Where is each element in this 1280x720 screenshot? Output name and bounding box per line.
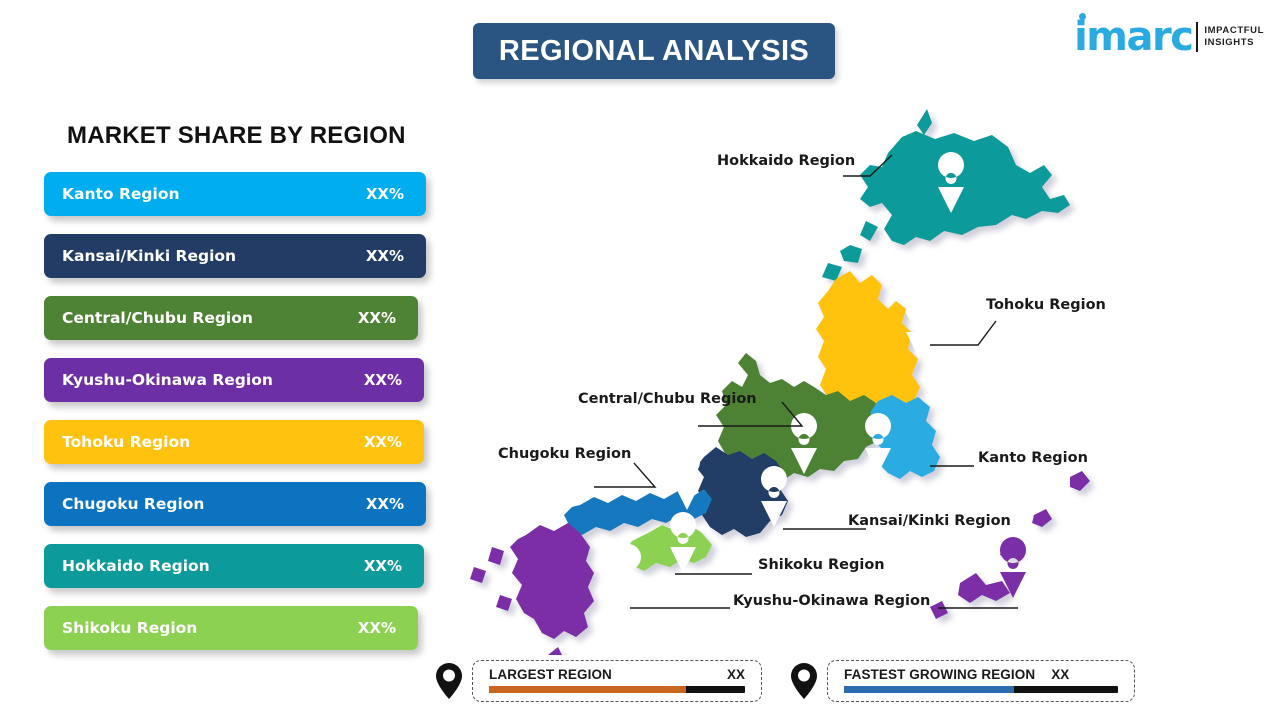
legend-item-shikoku[interactable]: Shikoku Region XX% <box>44 606 418 650</box>
fastest-growing-region-meter-fill <box>844 686 1014 693</box>
map-label-hokkaido: Hokkaido Region <box>717 153 855 169</box>
fastest-growing-region-label: FASTEST GROWING REGION <box>844 667 1035 682</box>
region-legend-list: Kanto Region XX% Kansai/Kinki Region XX%… <box>44 172 434 668</box>
leader-line-chugoku <box>594 463 655 487</box>
legend-item-value: XX% <box>366 495 404 513</box>
legend-item-value: XX% <box>364 433 402 451</box>
legend-item-hokkaido[interactable]: Hokkaido Region XX% <box>44 544 424 588</box>
largest-region-head: LARGEST REGION XX <box>489 667 745 682</box>
legend-item-value: XX% <box>366 247 404 265</box>
largest-region-label: LARGEST REGION <box>489 667 612 682</box>
imarc-logo: imarc IMPACTFUL INSIGHTS <box>1074 14 1264 60</box>
market-share-heading: MARKET SHARE BY REGION <box>67 122 406 150</box>
legend-item-label: Hokkaido Region <box>62 557 210 575</box>
legend-item-tohoku[interactable]: Tohoku Region XX% <box>44 420 424 464</box>
largest-region-value: XX <box>727 667 745 682</box>
fastest-growing-region-head: FASTEST GROWING REGION XX <box>844 667 1118 682</box>
map-pin-fastest-icon <box>791 663 817 699</box>
largest-region-callout[interactable]: LARGEST REGION XX <box>436 660 762 702</box>
legend-item-label: Shikoku Region <box>62 619 197 637</box>
legend-item-label: Kyushu-Okinawa Region <box>62 371 273 389</box>
map-pin-kyushu-icon <box>615 544 641 605</box>
map-label-central-chubu: Central/Chubu Region <box>578 391 757 407</box>
map-label-kansai-kinki: Kansai/Kinki Region <box>848 513 1011 529</box>
legend-item-value: XX% <box>358 309 396 327</box>
logo-tagline-line1: IMPACTFUL <box>1204 25 1264 37</box>
fastest-growing-region-value: XX <box>1051 667 1069 682</box>
logo-wordmark-text: imarc <box>1074 14 1192 60</box>
map-region-tohoku[interactable] <box>816 271 920 407</box>
map-region-kyushu[interactable] <box>470 523 594 655</box>
map-pin-largest-icon <box>436 663 462 699</box>
logo-tagline: IMPACTFUL INSIGHTS <box>1204 25 1264 49</box>
leader-line-tohoku <box>930 321 996 345</box>
map-label-chugoku: Chugoku Region <box>498 446 631 462</box>
legend-item-label: Kansai/Kinki Region <box>62 247 236 265</box>
fastest-growing-region-box: FASTEST GROWING REGION XX <box>827 660 1135 702</box>
largest-region-meter-fill <box>489 686 686 693</box>
logo-wordmark: imarc <box>1074 17 1192 57</box>
fastest-growing-region-meter <box>844 686 1118 693</box>
legend-item-kyushu-okinawa[interactable]: Kyushu-Okinawa Region XX% <box>44 358 424 402</box>
legend-item-kanto[interactable]: Kanto Region XX% <box>44 172 426 216</box>
map-label-shikoku: Shikoku Region <box>758 557 885 573</box>
slide-root: REGIONAL ANALYSIS imarc IMPACTFUL INSIGH… <box>0 0 1280 720</box>
largest-region-meter <box>489 686 745 693</box>
fastest-growing-region-callout[interactable]: FASTEST GROWING REGION XX <box>791 660 1135 702</box>
legend-item-value: XX% <box>358 619 396 637</box>
header-banner: REGIONAL ANALYSIS <box>473 23 835 79</box>
legend-item-kansai-kinki[interactable]: Kansai/Kinki Region XX% <box>44 234 426 278</box>
legend-item-label: Tohoku Region <box>62 433 190 451</box>
legend-item-chugoku[interactable]: Chugoku Region XX% <box>44 482 426 526</box>
map-label-tohoku: Tohoku Region <box>986 297 1106 313</box>
legend-item-value: XX% <box>364 557 402 575</box>
legend-item-central-chubu[interactable]: Central/Chubu Region XX% <box>44 296 418 340</box>
legend-item-label: Central/Chubu Region <box>62 309 253 327</box>
legend-item-label: Chugoku Region <box>62 495 204 513</box>
legend-item-value: XX% <box>366 185 404 203</box>
logo-tagline-line2: INSIGHTS <box>1204 37 1264 49</box>
legend-item-value: XX% <box>364 371 402 389</box>
bottom-callout-row: LARGEST REGION XX FASTEST GROWING REGION… <box>0 660 1280 712</box>
page-title: REGIONAL ANALYSIS <box>499 35 809 68</box>
legend-item-label: Kanto Region <box>62 185 180 203</box>
map-label-kanto: Kanto Region <box>978 450 1088 466</box>
logo-divider <box>1196 22 1198 52</box>
map-label-kyushu-okinawa: Kyushu-Okinawa Region <box>733 593 930 609</box>
map-pin-tohoku-icon <box>906 297 932 358</box>
largest-region-box: LARGEST REGION XX <box>472 660 762 702</box>
japan-regional-map: Hokkaido Region Tohoku Region Central/Ch… <box>430 95 1260 655</box>
